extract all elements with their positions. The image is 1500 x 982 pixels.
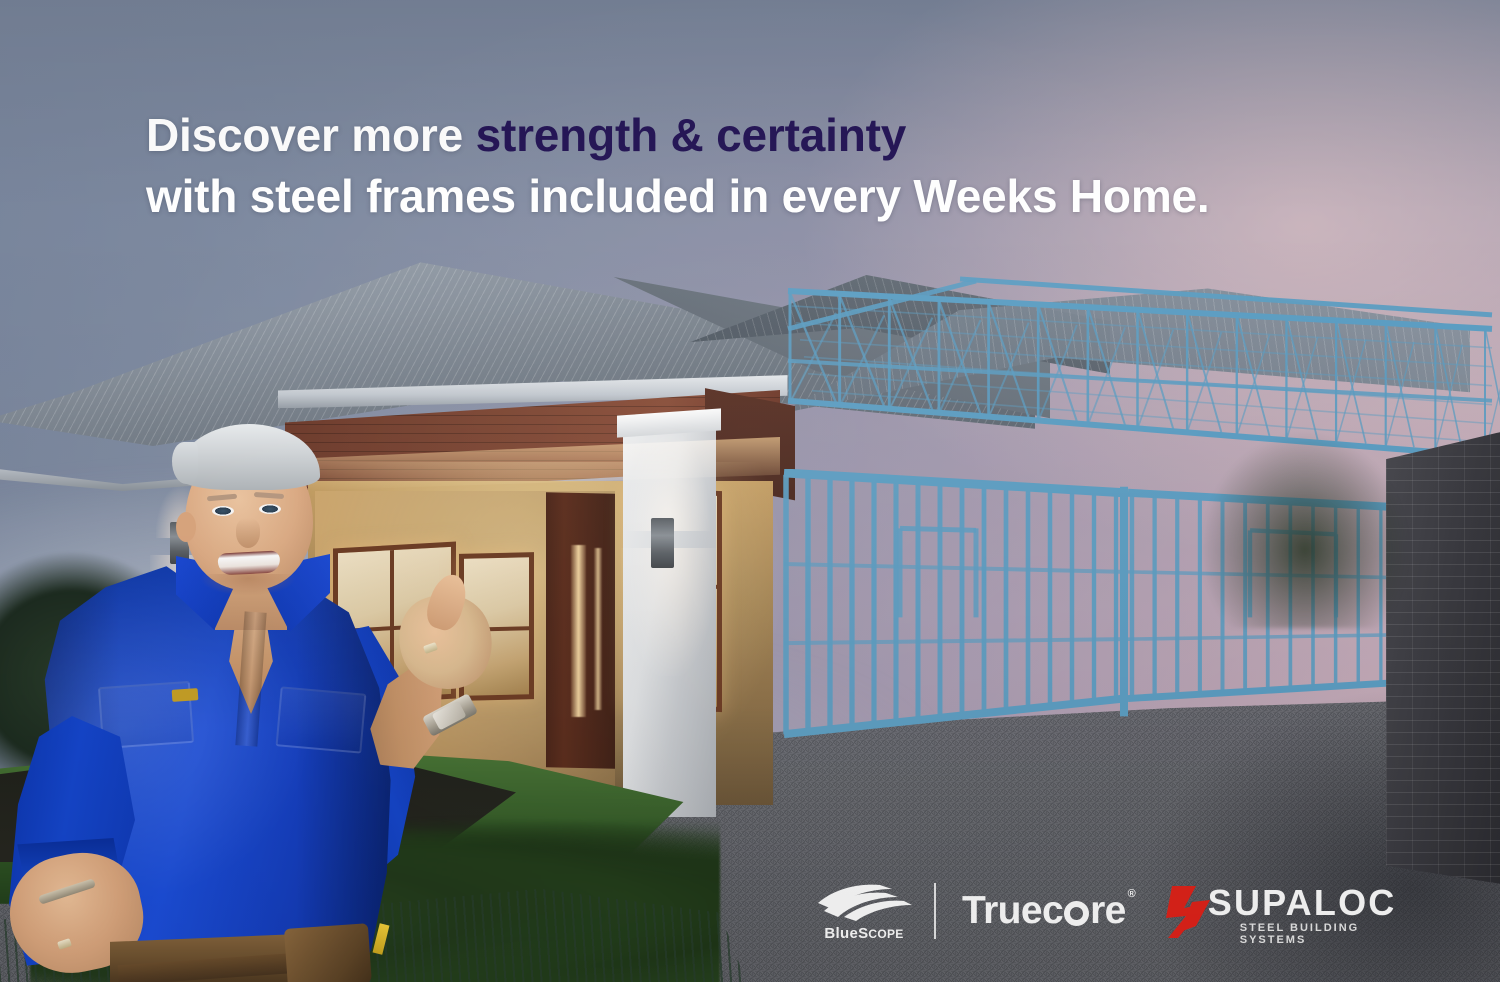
truecore-suffix: re: [1090, 882, 1126, 940]
column-feature: [623, 424, 716, 817]
wall-sconce-a: [651, 518, 674, 567]
door-sidelight: [571, 545, 586, 717]
headline: Discover more strength & certainty with …: [146, 105, 1346, 227]
background-foliage-right: [1200, 432, 1410, 628]
headline-accent: strength & certainty: [476, 109, 907, 161]
bluescope-wordmark: BlueSCOPE: [812, 925, 916, 942]
eye-left: [212, 506, 234, 516]
nose: [236, 518, 260, 548]
chin-shadow: [200, 574, 296, 596]
headline-line1-prefix: Discover more: [146, 109, 476, 161]
registered-trademark-icon: ®: [1128, 888, 1136, 900]
bluescope-logo[interactable]: BlueSCOPE: [812, 879, 916, 943]
tool-pouch: [284, 923, 372, 982]
supaloc-tagline: STEEL BUILDING SYSTEMS: [1240, 922, 1394, 946]
truecore-logo[interactable]: Truecre ®: [962, 882, 1132, 940]
bluescope-ribbon-icon: [814, 881, 914, 921]
headline-line2: with steel frames included in every Week…: [146, 166, 1346, 227]
logo-divider: [934, 883, 936, 939]
shirt-pocket-right: [276, 686, 367, 753]
eye-right: [259, 504, 281, 514]
door-sidelight-2: [594, 548, 602, 710]
banner-image: Discover more strength & certainty with …: [0, 0, 1500, 982]
presenter-person: [0, 382, 420, 982]
smiling-mouth: [217, 550, 280, 575]
supaloc-logo[interactable]: SUPALOC STEEL BUILDING SYSTEMS: [1166, 880, 1394, 942]
supaloc-wordmark: SUPALOC: [1208, 882, 1397, 924]
white-hair: [178, 424, 320, 490]
truecore-o-ring-icon: [1064, 901, 1089, 926]
truecore-prefix: Truec: [962, 882, 1063, 940]
shirt-brand-tag: [172, 688, 199, 702]
partner-logo-bar: BlueSCOPE Truecre ® SUPALOC STEEL BUILDI…: [812, 876, 1332, 946]
ear: [176, 512, 196, 542]
